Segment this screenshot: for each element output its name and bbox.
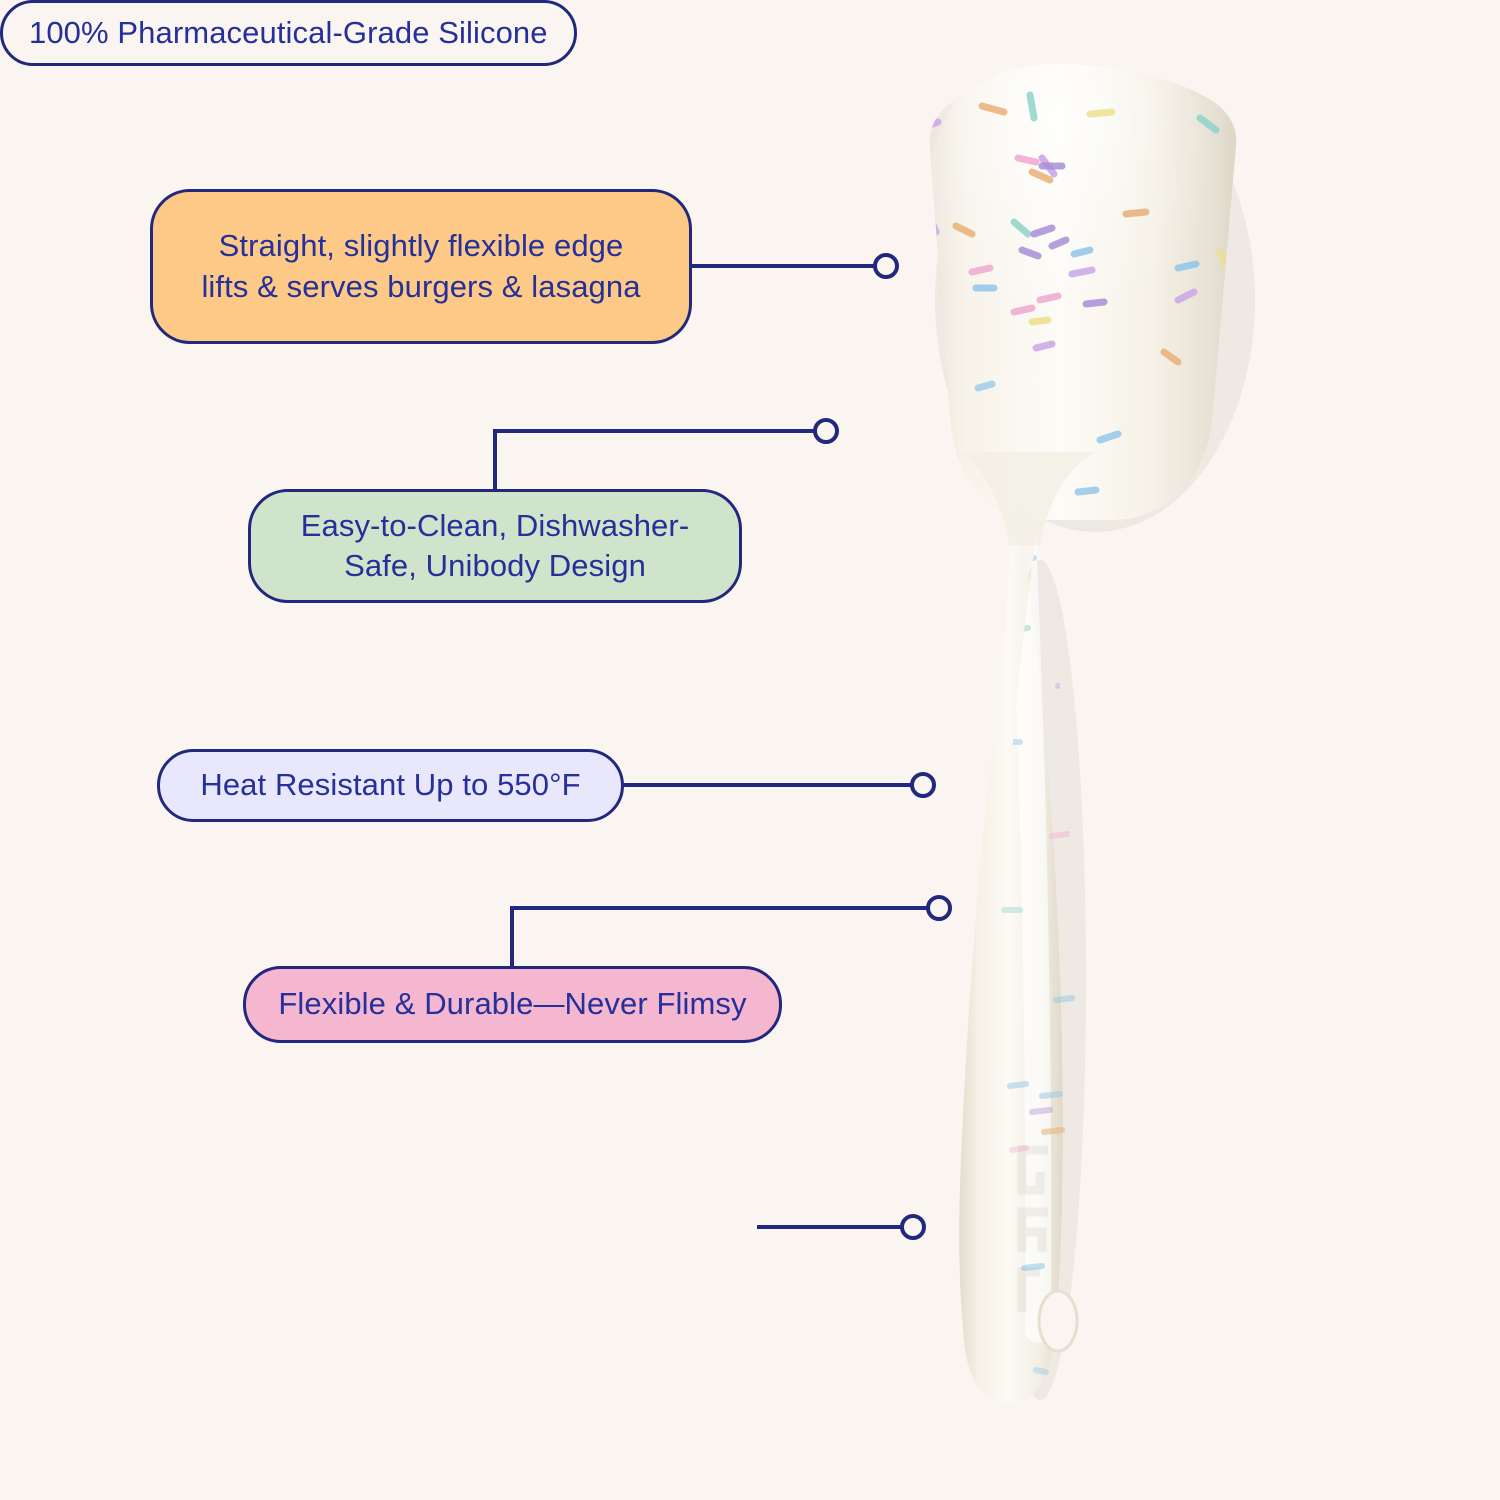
hanging-hole <box>1039 1291 1077 1351</box>
callout-edge-label: Straight, slightly flexible edge lifts &… <box>201 226 640 307</box>
callout-edge: Straight, slightly flexible edge lifts &… <box>150 189 692 344</box>
callout-silicone: 100% Pharmaceutical-Grade Silicone <box>0 0 577 66</box>
callout-clean: Easy-to-Clean, Dishwasher- Safe, Unibody… <box>248 489 742 603</box>
callout-flex: Flexible & Durable—Never Flimsy <box>243 966 782 1043</box>
infographic-canvas: Straight, slightly flexible edge lifts &… <box>0 0 1500 1500</box>
callout-silicone-label: 100% Pharmaceutical-Grade Silicone <box>29 13 548 53</box>
callout-heat: Heat Resistant Up to 550°F <box>157 749 624 822</box>
callout-heat-label: Heat Resistant Up to 550°F <box>200 765 580 805</box>
callout-clean-label: Easy-to-Clean, Dishwasher- Safe, Unibody… <box>301 506 690 587</box>
spatula-head <box>914 30 1256 520</box>
callout-flex-label: Flexible & Durable—Never Flimsy <box>278 984 746 1024</box>
